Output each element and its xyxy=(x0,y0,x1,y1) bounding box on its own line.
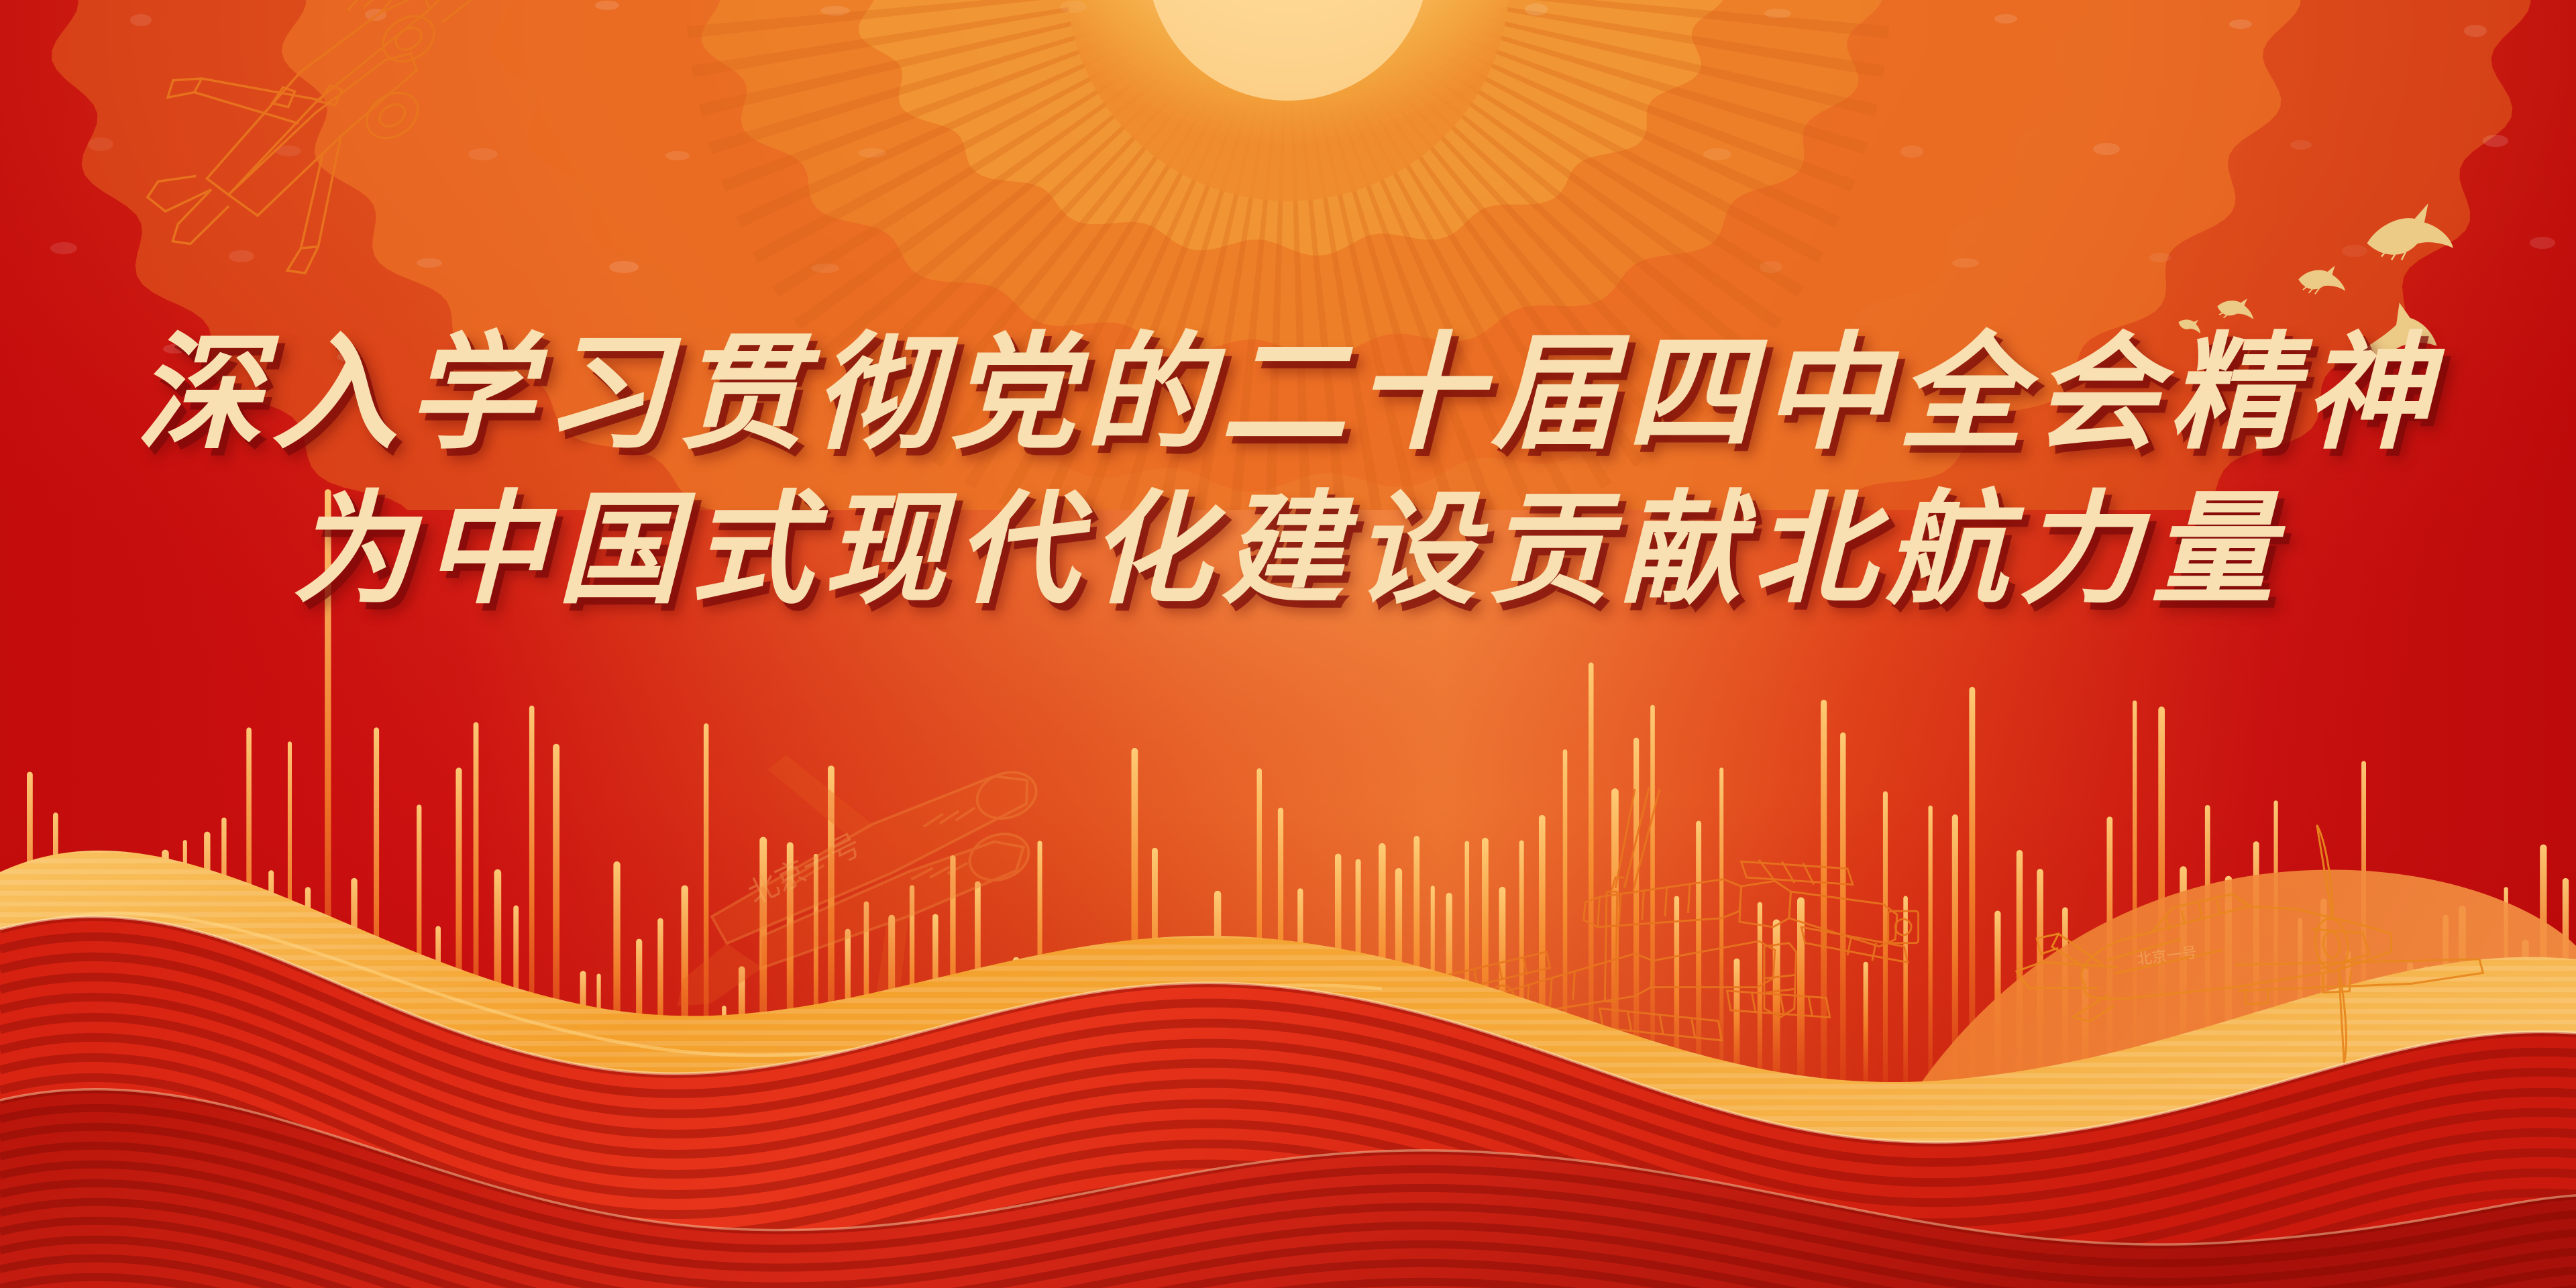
svg-text:北京一号: 北京一号 xyxy=(2136,944,2198,968)
banner-root: 深入学习贯彻党的二十届四中全会精神 为中国式现代化建设贡献北航力量 xyxy=(0,0,2576,1288)
beijing-no1-propeller-plane-line-art: 北京一号 xyxy=(0,0,2576,1288)
